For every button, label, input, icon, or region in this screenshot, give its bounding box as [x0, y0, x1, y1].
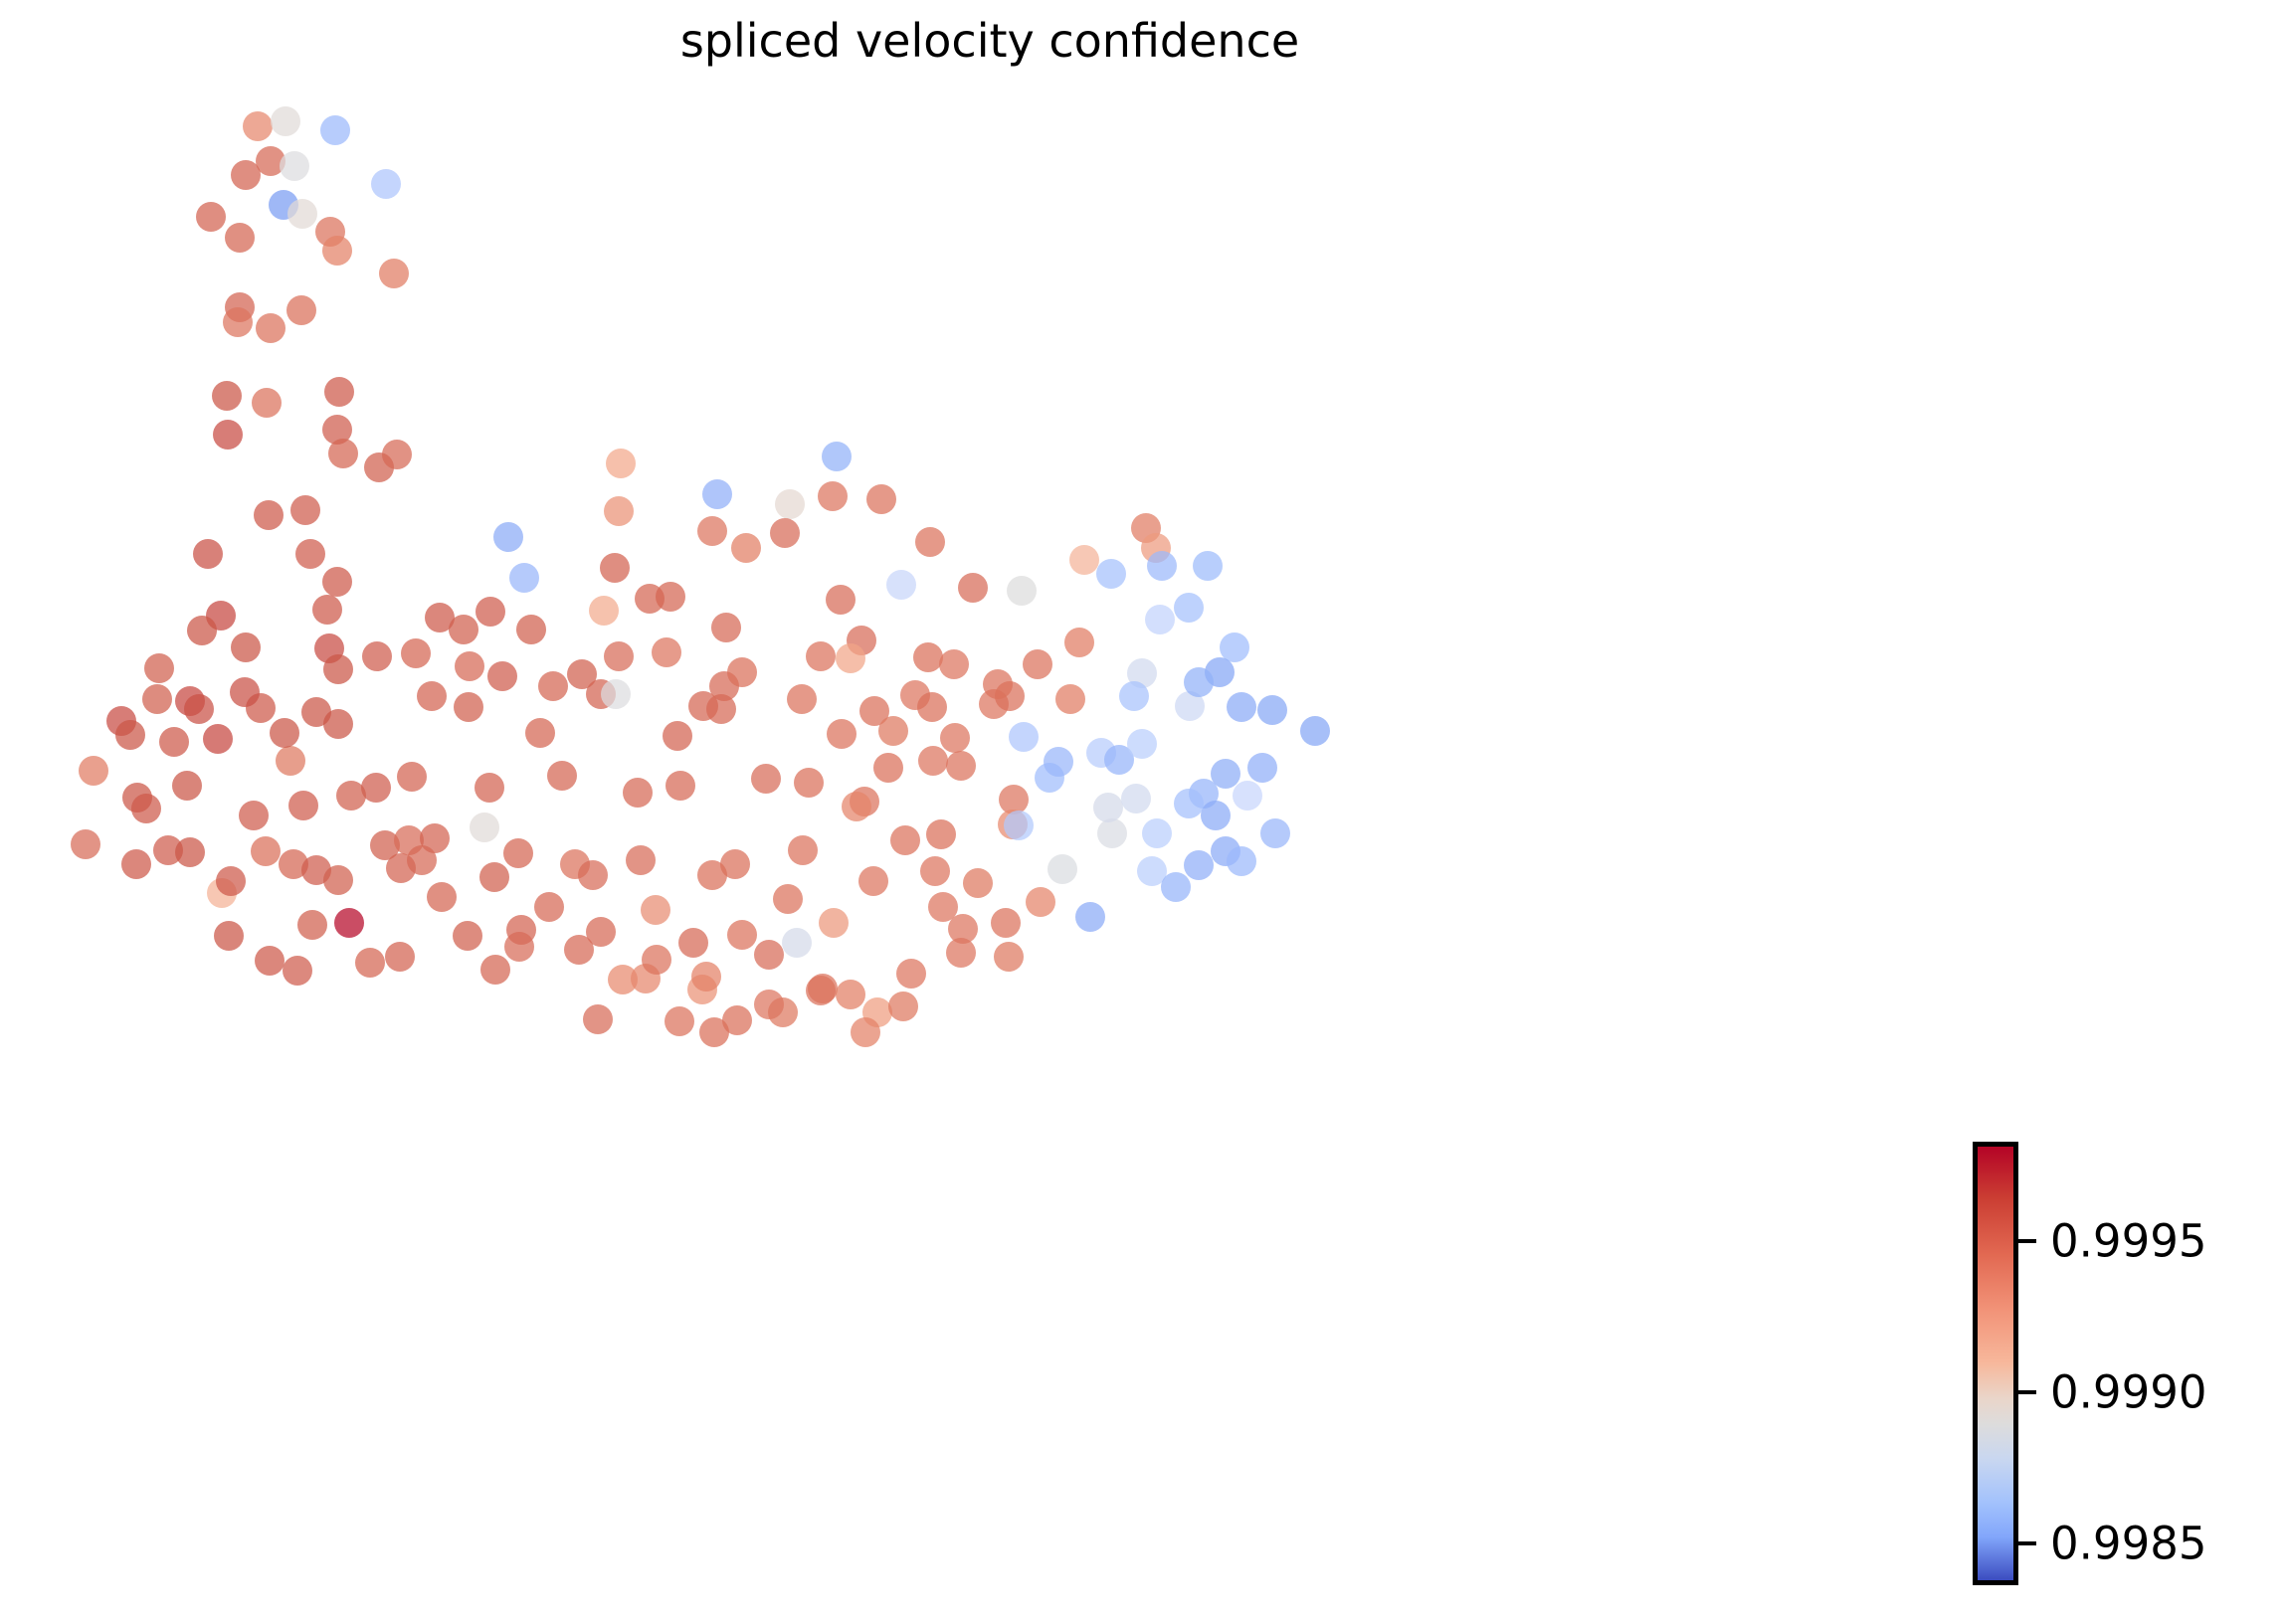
scatter-point [1227, 846, 1256, 876]
scatter-point [322, 236, 352, 266]
scatter-point [727, 920, 757, 950]
scatter-point [691, 962, 721, 992]
scatter-point [697, 516, 727, 546]
scatter-point [79, 756, 108, 786]
scatter-point [842, 792, 871, 821]
scatter-point [1201, 801, 1231, 830]
scatter-point [453, 921, 482, 951]
scatter-point [142, 684, 172, 714]
scatter-point [818, 481, 848, 511]
scatter-point [666, 771, 695, 801]
scatter-point [604, 496, 634, 526]
scatter-point [806, 976, 836, 1005]
scatter-point [711, 613, 741, 642]
scatter-point [525, 718, 555, 748]
scatter-point [564, 935, 594, 965]
scatter-point [223, 307, 253, 337]
scatter-point [252, 388, 282, 418]
scatter-point [290, 495, 320, 525]
scatter-point [827, 719, 856, 749]
scatter-point [538, 671, 568, 701]
scatter-point [1096, 559, 1126, 589]
scatter-point [991, 908, 1021, 938]
scatter-point [470, 812, 499, 842]
colorbar-tick-label: 0.9995 [2050, 1215, 2206, 1268]
scatter-point [782, 928, 812, 958]
scatter-point [371, 169, 401, 199]
scatter-point [1026, 887, 1055, 917]
scatter-point [239, 801, 269, 830]
scatter-point [1121, 784, 1151, 813]
scatter-point [826, 585, 856, 615]
scatter-point [283, 956, 312, 986]
scatter-point [213, 420, 243, 450]
scatter-point [184, 694, 214, 724]
scatter-point [417, 681, 447, 711]
scatter-point [1184, 667, 1214, 697]
scatter-point [917, 692, 947, 722]
scatter-point [203, 724, 233, 754]
scatter-point [397, 762, 427, 792]
colorbar-frame [1973, 1142, 2018, 1585]
scatter-point [623, 778, 653, 808]
scatter-point [1069, 545, 1099, 575]
scatter-point [836, 643, 865, 673]
scatter-point [479, 862, 509, 892]
scatter-point [754, 940, 784, 970]
scatter-point [493, 522, 523, 552]
scatter-point [1147, 551, 1177, 581]
scatter-point [606, 449, 636, 478]
scatter-point [251, 836, 281, 866]
figure-canvas: spliced velocity confidence 0.99950.9990… [0, 0, 2284, 1624]
scatter-point [1009, 722, 1039, 752]
scatter-point [1055, 684, 1085, 714]
scatter-point [534, 892, 564, 922]
scatter-point [449, 615, 478, 644]
scatter-point [1097, 818, 1127, 848]
scatter-point [819, 908, 849, 938]
scatter-point [254, 500, 284, 530]
scatter-point [243, 111, 273, 141]
scatter-point [286, 295, 316, 325]
scatter-point [1119, 681, 1149, 711]
scatter-point [770, 518, 800, 548]
scatter-point [873, 753, 903, 783]
colorbar-tick-label: 0.9990 [2050, 1365, 2206, 1418]
scatter-point [1300, 716, 1330, 746]
scatter-point [626, 845, 656, 875]
scatter-point [280, 151, 309, 181]
colorbar-tick-mark [2018, 1239, 2036, 1243]
scatter-point [115, 720, 145, 750]
scatter-point [212, 381, 242, 411]
scatter-point [836, 980, 865, 1009]
scatter-point [583, 1004, 613, 1034]
colorbar-tick-mark [2018, 1541, 2036, 1545]
scatter-point [939, 649, 969, 679]
scatter-point [822, 442, 852, 471]
scatter-point [851, 1017, 880, 1047]
scatter-point [727, 657, 757, 687]
scatter-point [946, 938, 976, 968]
scatter-point [1023, 649, 1052, 679]
scatter-point [407, 845, 437, 875]
scatter-point [509, 563, 539, 593]
scatter-point [788, 835, 818, 865]
scatter-point [187, 616, 217, 645]
scatter-point [886, 570, 916, 600]
scatter-point [1174, 593, 1204, 623]
scatter-point [787, 684, 817, 714]
scatter-point [702, 479, 732, 509]
scatter-point [312, 595, 342, 625]
scatter-point [940, 723, 970, 753]
scatter-point [1174, 789, 1204, 818]
scatter-point [214, 921, 244, 951]
scatter-point [362, 641, 392, 671]
scatter-point [71, 829, 100, 859]
scatter-point [1161, 872, 1191, 902]
scatter-point [896, 959, 926, 989]
scatter-point [504, 932, 534, 962]
scatter-point [890, 825, 920, 855]
scatter-point [334, 908, 364, 938]
colorbar-tick-label: 0.9985 [2050, 1517, 2206, 1569]
scatter-point [578, 860, 608, 890]
scatter-point [794, 768, 824, 798]
scatter-point [697, 860, 727, 890]
scatter-point [379, 259, 409, 288]
colorbar: 0.99950.99900.9985 [1973, 1142, 2271, 1589]
scatter-point [678, 928, 708, 958]
scatter-point [866, 484, 896, 514]
scatter-point [858, 866, 888, 896]
scatter-point [121, 849, 151, 879]
scatter-point [983, 669, 1013, 699]
scatter-point [320, 115, 350, 145]
scatter-point [503, 838, 533, 868]
scatter-point [1127, 729, 1157, 759]
scatter-point [652, 637, 681, 667]
scatter-point [1233, 781, 1262, 811]
scatter-point [915, 527, 945, 557]
scatter-point [1247, 753, 1277, 783]
scatter-point [946, 751, 976, 781]
scatter-point [663, 721, 692, 751]
scatter-point [270, 718, 299, 748]
scatter-point [323, 709, 353, 739]
scatter-point [256, 313, 285, 343]
scatter-point [806, 641, 836, 671]
scatter-point [918, 746, 948, 776]
scatter-point [601, 679, 631, 709]
scatter-point [1257, 695, 1287, 725]
scatter-point [773, 884, 803, 914]
scatter-point [963, 868, 993, 898]
scatter-point [323, 865, 353, 895]
scatter-point [322, 567, 352, 597]
scatter-point [1093, 793, 1123, 822]
scatter-point [276, 746, 305, 776]
scatter-point [336, 781, 366, 811]
scatter-point [516, 615, 546, 644]
scatter-point [271, 106, 300, 136]
scatter-point [196, 202, 226, 232]
scatter-point [455, 651, 484, 681]
scatter-point [480, 955, 510, 985]
scatter-point [231, 632, 261, 662]
scatter-point [323, 654, 353, 684]
scatter-point [385, 942, 415, 972]
scatter-point [926, 819, 956, 849]
scatter-point [994, 942, 1024, 972]
scatter-point [288, 791, 318, 820]
scatter-point [641, 895, 670, 925]
scatter-point [589, 596, 619, 626]
scatter-point [193, 539, 223, 569]
scatter-point [775, 489, 805, 519]
scatter-point [297, 910, 327, 940]
scatter-point [230, 677, 260, 707]
scatter-point [401, 638, 431, 668]
scatter-point [131, 794, 161, 823]
scatter-point [324, 377, 354, 407]
scatter-point [475, 773, 504, 803]
colorbar-tick-mark [2018, 1390, 2036, 1394]
scatter-point [888, 992, 918, 1021]
scatter-point [665, 1006, 694, 1036]
scatter-point [731, 533, 761, 563]
scatter-point [172, 771, 202, 801]
scatter-point [1004, 811, 1034, 840]
scatter-point [1145, 605, 1175, 634]
scatter-point [476, 597, 505, 627]
scatter-point [722, 1005, 752, 1035]
scatter-point [295, 539, 325, 569]
scatter-plot-area [0, 0, 1990, 1624]
scatter-point [1007, 576, 1037, 606]
scatter-point [328, 439, 358, 468]
scatter-point [144, 653, 174, 683]
scatter-point [487, 661, 517, 691]
scatter-point [216, 866, 246, 896]
scatter-point [287, 199, 317, 229]
scatter-point [355, 948, 385, 978]
scatter-point [1227, 692, 1256, 722]
scatter-point [600, 553, 630, 583]
scatter-point [175, 837, 205, 867]
scatter-point [1184, 850, 1214, 880]
scatter-point [427, 882, 457, 912]
scatter-point [751, 764, 781, 794]
scatter-point [878, 716, 908, 746]
scatter-point [382, 440, 412, 469]
scatter-point [1064, 628, 1094, 657]
scatter-point [604, 641, 634, 671]
scatter-point [1047, 854, 1077, 884]
scatter-point [1142, 818, 1172, 848]
scatter-point [1260, 818, 1290, 848]
scatter-point [1075, 902, 1105, 932]
scatter-point [1193, 551, 1223, 581]
scatter-point [754, 990, 784, 1019]
scatter-point [1044, 747, 1073, 777]
scatter-point [225, 223, 255, 253]
scatter-point [642, 945, 671, 975]
scatter-point [159, 727, 189, 757]
scatter-point [547, 761, 577, 791]
scatter-point [920, 856, 950, 886]
scatter-point [255, 946, 285, 976]
scatter-point [656, 582, 685, 612]
scatter-point [958, 573, 988, 603]
scatter-point [454, 692, 483, 722]
